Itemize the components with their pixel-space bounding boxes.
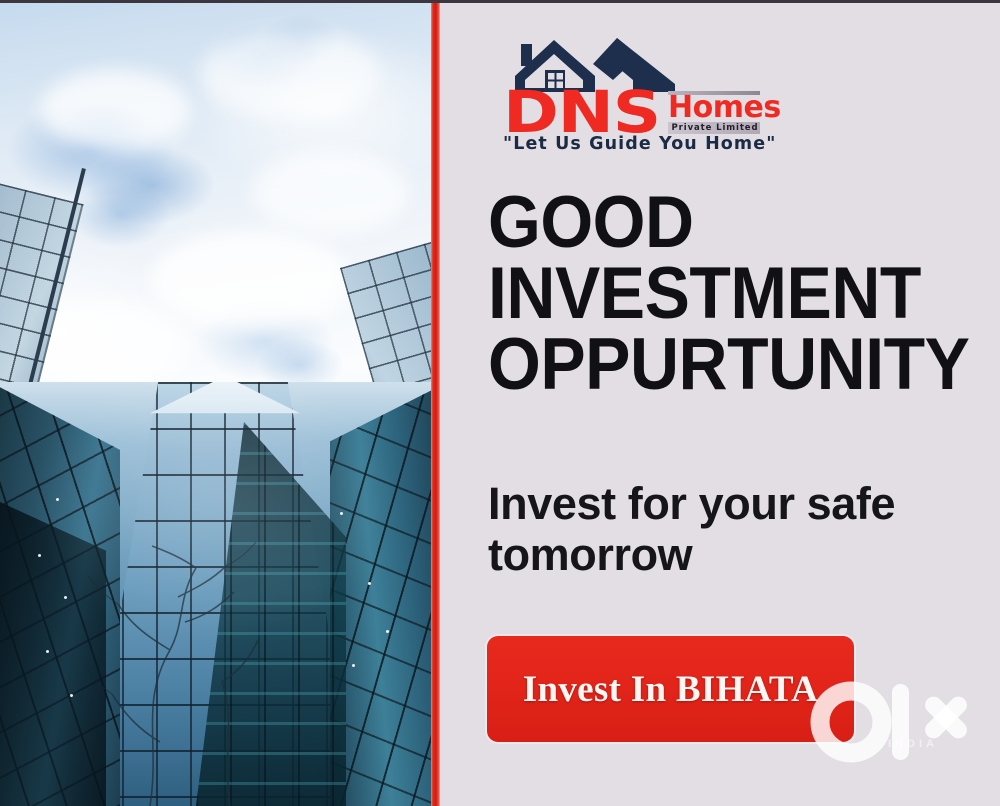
top-border-line bbox=[0, 0, 1000, 3]
subheadline: Invest for your safe tomorrow bbox=[488, 478, 968, 581]
logo-wordmark: DNS Homes Private Limited bbox=[503, 84, 758, 134]
headline-line-1: GOOD bbox=[488, 188, 953, 259]
logo-legal-text: Private Limited bbox=[669, 122, 761, 134]
headline-line-3: OPPURTUNITY bbox=[488, 330, 953, 401]
cta-label: Invest In BIHATA bbox=[523, 668, 818, 711]
headline-line-2: INVESTMENT bbox=[488, 259, 953, 330]
subheadline-line-1: Invest for your safe bbox=[488, 478, 968, 529]
brand-logo[interactable]: DNS Homes Private Limited "Let Us Guide … bbox=[503, 36, 758, 158]
headline: GOOD INVESTMENT OPPURTUNITY bbox=[488, 188, 953, 400]
logo-homes-text: Homes bbox=[668, 93, 781, 123]
content-panel: DNS Homes Private Limited "Let Us Guide … bbox=[440, 0, 1000, 806]
glass-tower-photo bbox=[0, 382, 433, 806]
vertical-red-divider bbox=[431, 0, 440, 806]
subheadline-line-2: tomorrow bbox=[488, 529, 968, 580]
brand-tagline: "Let Us Guide You Home" bbox=[503, 136, 758, 154]
reflected-tree-branches bbox=[0, 382, 433, 806]
invest-in-bihata-button[interactable]: Invest In BIHATA bbox=[487, 636, 854, 742]
advertisement-canvas: DNS Homes Private Limited "Let Us Guide … bbox=[0, 0, 1000, 806]
hero-photo bbox=[0, 0, 433, 806]
